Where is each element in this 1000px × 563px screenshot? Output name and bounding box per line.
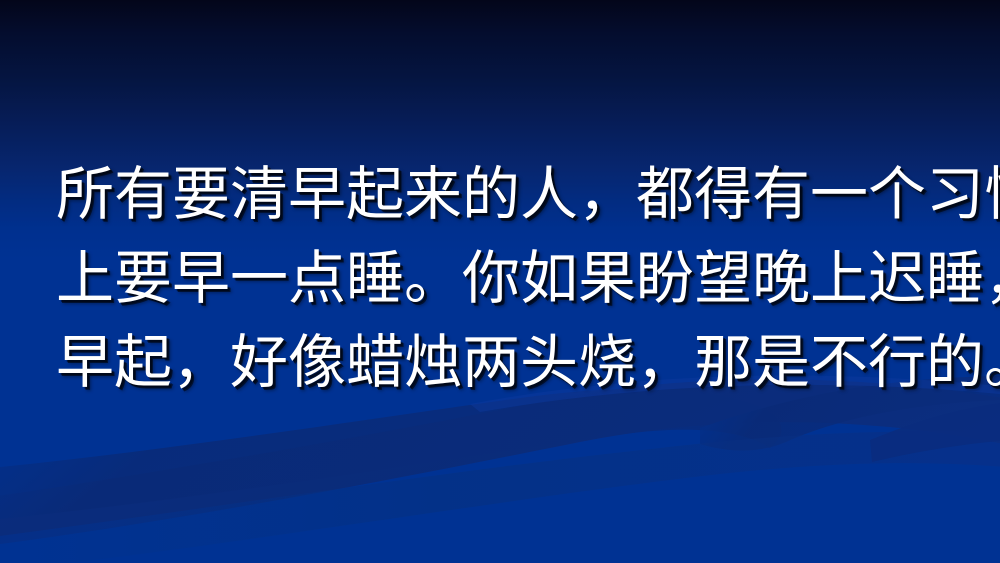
body-text-line-3: 早起，好像蜡烛两头烧，那是不行的。	[52, 320, 952, 404]
body-text-line-1: 所有要清早起来的人，都得有一个习惯，晚	[52, 152, 952, 236]
presentation-slide: 所有要清早起来的人，都得有一个习惯，晚 上要早一点睡。你如果盼望晚上迟睡，早上 …	[0, 0, 1000, 563]
body-text-line-2: 上要早一点睡。你如果盼望晚上迟睡，早上	[52, 236, 952, 320]
slide-body-text: 所有要清早起来的人，都得有一个习惯，晚 上要早一点睡。你如果盼望晚上迟睡，早上 …	[52, 152, 952, 404]
